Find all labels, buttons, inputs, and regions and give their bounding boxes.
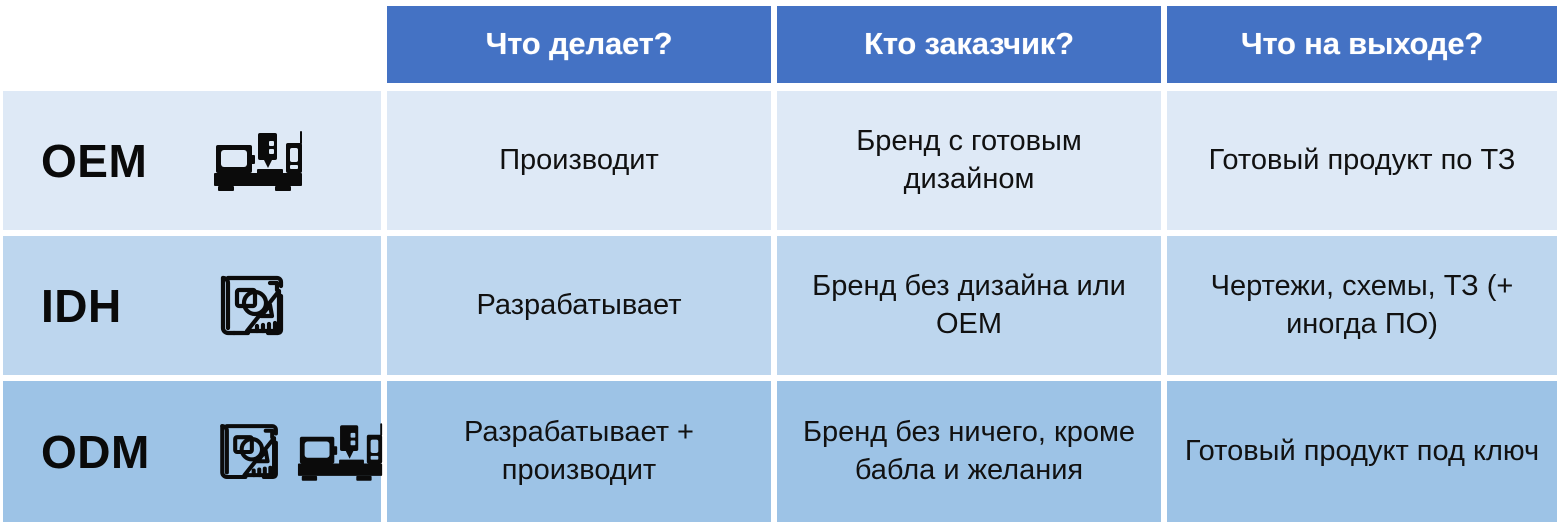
column-header-customer: Кто заказчик? <box>774 0 1164 88</box>
model-name-idh: IDH <box>31 283 213 329</box>
cell-odm-does: Разрабатывает + производит <box>384 378 774 525</box>
table-corner-cell <box>0 0 384 88</box>
column-header-output: Что на выходе? <box>1164 0 1560 88</box>
cell-oem-does: Производит <box>384 88 774 233</box>
model-name-oem: OEM <box>31 138 213 184</box>
model-name-odm: ODM <box>31 429 213 475</box>
table-row-oem-label: OEM <box>0 88 384 233</box>
column-header-customer-label: Кто заказчик? <box>864 27 1074 61</box>
cell-oem-does-text: Производит <box>499 142 659 179</box>
cell-oem-output: Готовый продукт по ТЗ <box>1164 88 1560 233</box>
cell-idh-output: Чертежи, схемы, ТЗ (+ иногда ПО) <box>1164 233 1560 378</box>
cell-idh-output-text: Чертежи, схемы, ТЗ (+ иногда ПО) <box>1182 268 1542 342</box>
icon-group-idh <box>213 270 293 342</box>
cell-oem-customer: Бренд с готовым дизайном <box>774 88 1164 233</box>
cell-odm-output: Готовый продукт под ключ <box>1164 378 1560 525</box>
icon-group-oem <box>213 129 305 193</box>
cell-oem-customer-text: Бренд с готовым дизайном <box>789 123 1149 197</box>
blueprint-icon <box>213 270 293 342</box>
cell-idh-customer-text: Бренд без дизайна или OEM <box>789 268 1149 342</box>
table-row-odm-label: ODM <box>0 378 384 525</box>
cell-oem-output-text: Готовый продукт по ТЗ <box>1209 142 1516 179</box>
cell-odm-output-text: Готовый продукт под ключ <box>1185 433 1539 470</box>
icon-group-odm <box>213 418 385 486</box>
cell-idh-does: Разрабатывает <box>384 233 774 378</box>
column-header-does: Что делает? <box>384 0 774 88</box>
blueprint-icon <box>213 418 287 486</box>
column-header-does-label: Что делает? <box>486 27 673 61</box>
cell-odm-customer-text: Бренд без ничего, кроме бабла и желания <box>789 414 1149 488</box>
cell-odm-does-text: Разрабатывает + производит <box>399 414 759 488</box>
oem-idh-odm-comparison-table: Что делает? Кто заказчик? Что на выходе?… <box>0 0 1560 525</box>
column-header-output-label: Что на выходе? <box>1241 27 1483 61</box>
cnc-machine-icon <box>297 421 385 483</box>
cell-idh-does-text: Разрабатывает <box>477 287 682 324</box>
cell-odm-customer: Бренд без ничего, кроме бабла и желания <box>774 378 1164 525</box>
cell-idh-customer: Бренд без дизайна или OEM <box>774 233 1164 378</box>
cnc-machine-icon <box>213 129 305 193</box>
table-row-idh-label: IDH <box>0 233 384 378</box>
